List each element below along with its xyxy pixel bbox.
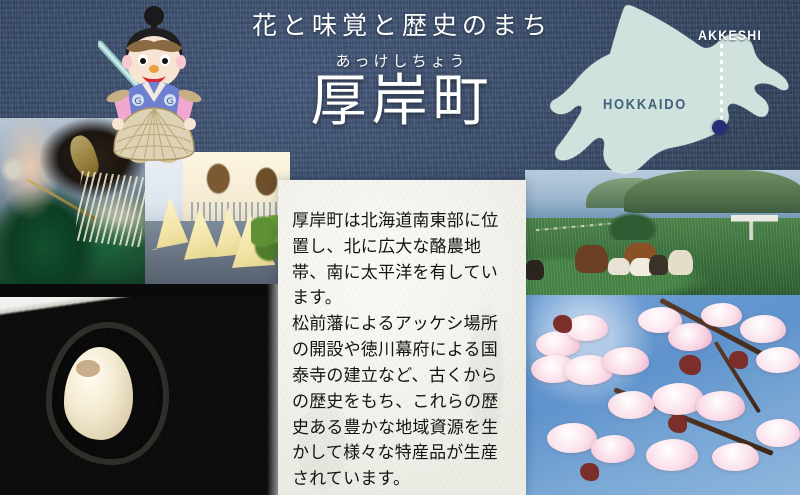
blossom (756, 347, 800, 373)
map-label-hokkaido: HOKKAIDO (603, 96, 687, 113)
description-panel: 厚岸町は北海道南東部に位置し、北に広大な酪農地帯、南に太平洋を有しています。 松… (278, 180, 526, 495)
flower-bud (553, 315, 572, 333)
mascot-nose (149, 65, 159, 73)
description-text: 厚岸町は北海道南東部に位置し、北に広大な酪農地帯、南に太平洋を有しています。 松… (278, 180, 526, 493)
lion-mane-streamer (75, 171, 148, 247)
blossom (646, 439, 698, 471)
blossom (756, 419, 800, 447)
photo-horses-coastal-pasture (525, 170, 800, 295)
description-paragraph-2: 松前藩によるアッケシ場所の開設や徳川幕府による国泰寺の建立など、古くからの歴史を… (292, 312, 510, 493)
blossom (602, 347, 649, 375)
flower-bud (679, 355, 701, 375)
blossom (547, 423, 597, 453)
mascot-character: G G (98, 4, 210, 176)
blossom (712, 443, 759, 471)
signboard-post (731, 215, 778, 240)
blossom (566, 315, 607, 341)
blossom (740, 315, 787, 343)
horse (575, 245, 608, 273)
svg-text:G: G (167, 97, 174, 107)
blossom (608, 391, 655, 419)
horse (668, 250, 693, 275)
akkeshi-leader-line (720, 44, 723, 122)
blossom (591, 435, 635, 463)
hokkaido-map: HOKKAIDO AKKESHI (540, 0, 800, 182)
description-paragraph-1: 厚岸町は北海道南東部に位置し、北に広大な酪農地帯、南に太平洋を有しています。 (292, 209, 510, 312)
akkeshi-promotional-banner: HOKKAIDO AKKESHI 花と味覚と歴史のまち あっけしちょう 厚岸町 (0, 0, 800, 495)
shrub (608, 213, 658, 241)
flower-bud (580, 463, 599, 481)
flower-bud (729, 351, 748, 369)
svg-text:G: G (135, 97, 142, 107)
flower-bud (668, 415, 687, 433)
photo-cherry-blossoms (525, 295, 800, 495)
map-label-akkeshi: AKKESHI (698, 27, 762, 43)
oyster-meat (64, 347, 134, 440)
blossom (696, 391, 746, 421)
photo-oysters-in-tray (0, 284, 290, 495)
horse (525, 260, 544, 280)
horse (608, 258, 630, 276)
blossom (701, 303, 742, 327)
horse (649, 255, 668, 275)
akkeshi-location-marker (712, 120, 727, 135)
blossom (668, 323, 712, 351)
